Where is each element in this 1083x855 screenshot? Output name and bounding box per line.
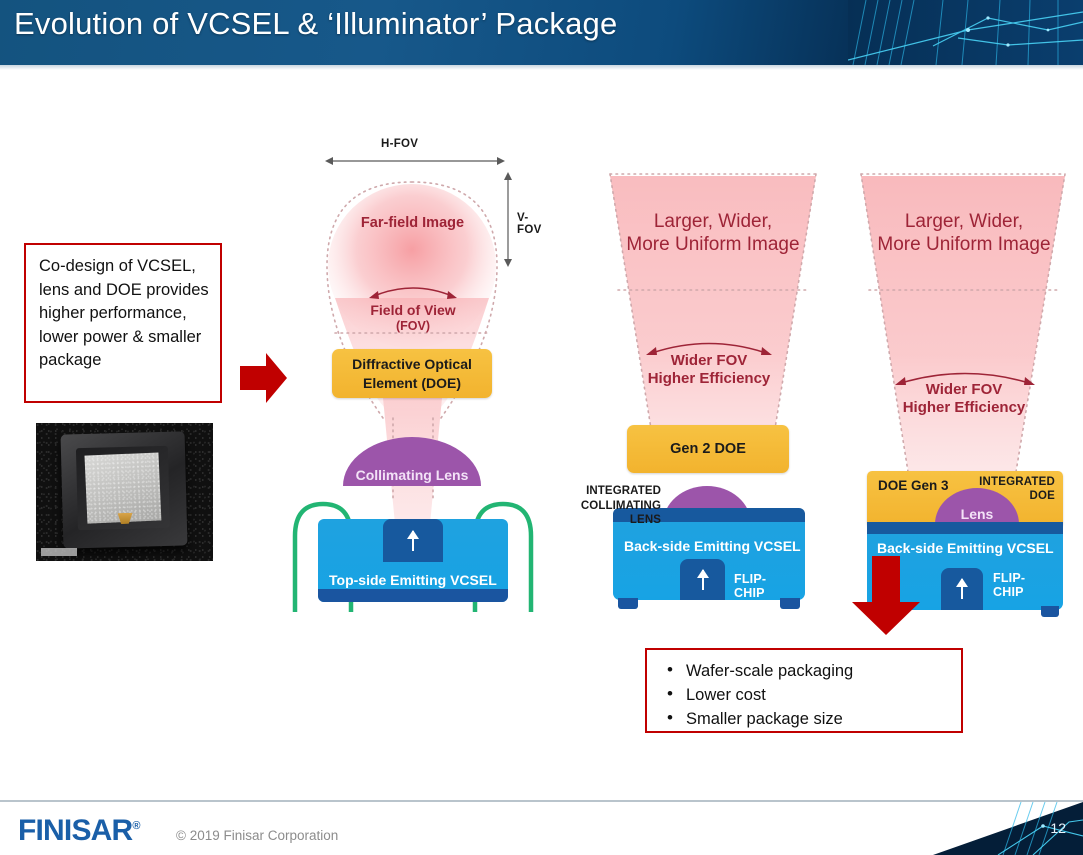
- diagram-column-gen2: Larger, Wider, More Uniform Image Wider …: [580, 0, 845, 640]
- cone-title-gen2-line2: More Uniform Image: [598, 233, 828, 256]
- bullet-item: Lower cost: [661, 683, 961, 707]
- integrated-doe-note-line1: INTEGRATED: [979, 475, 1055, 489]
- diagram-column-gen3: Larger, Wider, More Uniform Image Wider …: [845, 0, 1083, 640]
- chip-foot-right-gen2: [780, 598, 800, 609]
- emission-window-gen2: [680, 559, 725, 600]
- doe-box-gen1: Diffractive Optical Element (DOE): [332, 349, 492, 398]
- vcsel-package-photo: [36, 423, 213, 561]
- bullet-item: Wafer-scale packaging: [661, 659, 961, 683]
- fov-label-gen1-line2: (FOV): [333, 319, 493, 334]
- lens-label-gen3: Lens: [961, 506, 994, 522]
- cone-title-gen1: Far-field Image: [305, 215, 520, 233]
- emission-arrow-up-icon-gen2: [702, 570, 704, 590]
- photo-package-outer: [61, 431, 188, 548]
- chip-foot-left-gen2: [618, 598, 638, 609]
- copyright-text: © 2019 Finisar Corporation: [176, 828, 338, 843]
- photo-watermark: [41, 548, 77, 556]
- fov-label-gen1-line1: Field of View: [333, 302, 493, 319]
- slide-footer: FINISAR® © 2019 Finisar Corporation 12: [0, 802, 1083, 855]
- integrated-lens-note-line2: COLLIMATING LENS: [551, 499, 661, 528]
- finisar-logo: FINISAR®: [18, 814, 141, 848]
- fov-arc-icon: [367, 280, 459, 302]
- diagram-column-gen1: H-FOV V-FOV: [285, 0, 550, 640]
- fov-label-gen2: Wider FOV Higher Efficiency: [608, 352, 810, 389]
- emission-arrow-up-icon: [412, 531, 414, 551]
- red-arrow-right-icon: [240, 352, 288, 404]
- chip-foot-right-gen3: [1041, 606, 1059, 617]
- integrated-collimating-lens-note: INTEGRATED COLLIMATING LENS: [551, 484, 661, 528]
- v-fov-label: V-FOV: [517, 212, 550, 236]
- cone-title-gen3: Larger, Wider, More Uniform Image: [853, 210, 1075, 256]
- callout-text: Co-design of VCSEL, lens and DOE provide…: [39, 255, 209, 373]
- page-number: 12: [1050, 820, 1066, 836]
- photo-package-cavity: [76, 446, 170, 530]
- fov-label-gen2-line2: Higher Efficiency: [608, 370, 810, 388]
- emission-window-gen1: [383, 519, 443, 562]
- doe-label-gen2: Gen 2 DOE: [670, 441, 746, 457]
- emission-arrow-up-icon-gen3: [961, 579, 963, 599]
- doe-box-gen2: Gen 2 DOE: [627, 425, 789, 473]
- fov-label-gen2-line1: Wider FOV: [608, 352, 810, 370]
- doe-label-gen1-line2: Element (DOE): [352, 374, 472, 393]
- flipchip-label-gen2: FLIP-CHIP: [734, 572, 766, 600]
- bullet-list: Wafer-scale packaging Lower cost Smaller…: [661, 659, 961, 731]
- cone-title-gen2: Larger, Wider, More Uniform Image: [598, 210, 828, 256]
- chip-label-gen3: Back-side Emitting VCSEL: [877, 540, 1054, 556]
- bullet-item: Smaller package size: [661, 707, 961, 731]
- h-fov-arrow-icon: [325, 155, 505, 167]
- emission-window-gen3: [941, 568, 983, 610]
- chip-label-gen1: Top-side Emitting VCSEL: [329, 572, 497, 588]
- cone-title-gen3-line1: Larger, Wider,: [853, 210, 1075, 233]
- finisar-logo-text: FINISAR: [18, 814, 132, 847]
- integrated-lens-note-line1: INTEGRATED: [551, 484, 661, 499]
- doe-label-gen3: DOE Gen 3: [878, 478, 949, 493]
- callout-box-left: Co-design of VCSEL, lens and DOE provide…: [24, 243, 222, 403]
- fov-label-gen3: Wider FOV Higher Efficiency: [863, 381, 1065, 418]
- flipchip-label-gen3: FLIP-CHIP: [993, 571, 1025, 599]
- photo-vcsel-die: [85, 452, 162, 523]
- callout-box-bottom: Wafer-scale packaging Lower cost Smaller…: [645, 648, 963, 733]
- fov-label-gen3-line2: Higher Efficiency: [863, 399, 1065, 417]
- slide-root: Evolution of VCSEL & ‘Illuminator’ Packa…: [0, 0, 1083, 855]
- fov-label-gen3-line1: Wider FOV: [863, 381, 1065, 399]
- registered-mark-icon: ®: [132, 820, 140, 832]
- cone-title-gen3-line2: More Uniform Image: [853, 233, 1075, 256]
- h-fov-label: H-FOV: [381, 138, 418, 150]
- red-arrow-down-icon: [850, 556, 922, 636]
- cone-title-gen2-line1: Larger, Wider,: [598, 210, 828, 233]
- doe-label-gen1-line1: Diffractive Optical: [352, 355, 472, 374]
- chip-label-gen2: Back-side Emitting VCSEL: [624, 538, 801, 554]
- chip-base-gen1: [318, 589, 508, 602]
